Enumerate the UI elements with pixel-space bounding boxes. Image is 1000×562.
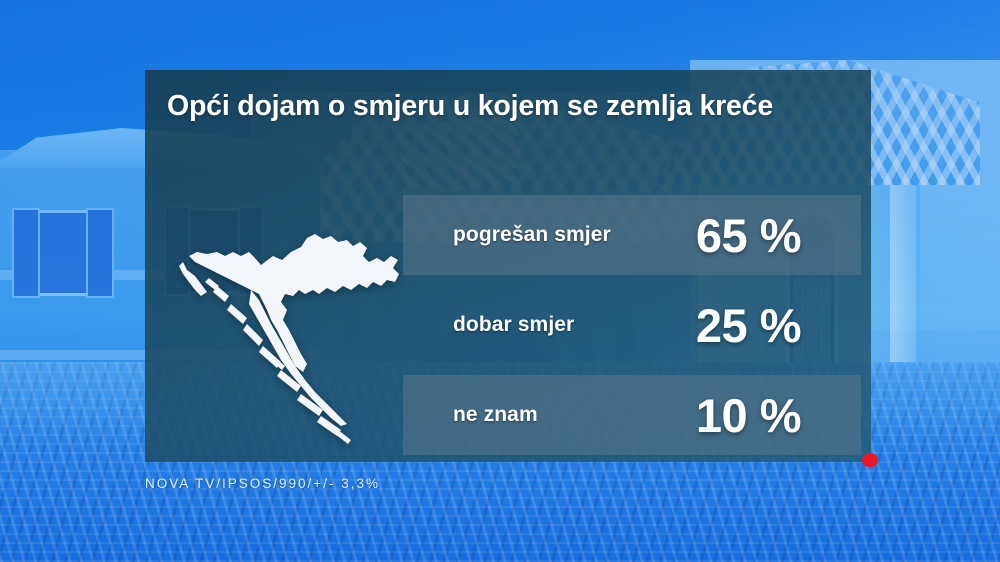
result-row-1[interactable]: dobar smjer 25 % xyxy=(403,285,861,365)
result-row-2[interactable]: ne znam 10 % xyxy=(403,375,861,455)
broadcast-poll-graphic: Opći dojam o smjeru u kojem se zemlja kr… xyxy=(0,0,1000,562)
result-label: pogrešan smjer xyxy=(453,223,611,247)
result-label: dobar smjer xyxy=(453,313,574,337)
result-row-0[interactable]: pogrešan smjer 65 % xyxy=(403,195,861,275)
result-value: 10 % xyxy=(696,388,843,443)
result-label: ne znam xyxy=(453,403,538,427)
row-gap xyxy=(403,275,861,285)
info-panel: Opći dojam o smjeru u kojem se zemlja kr… xyxy=(145,70,871,462)
croatia-map xyxy=(155,190,415,450)
row-gap xyxy=(403,365,861,375)
red-dot-indicator xyxy=(862,453,878,467)
page-title: Opći dojam o smjeru u kojem se zemlja kr… xyxy=(167,90,851,123)
result-value: 25 % xyxy=(696,298,843,353)
results-list: pogrešan smjer 65 % dobar smjer 25 % ne … xyxy=(403,195,861,455)
source-attribution: NOVA TV/IPSOS/990/+/- 3,3% xyxy=(145,476,380,491)
result-value: 65 % xyxy=(696,208,843,263)
